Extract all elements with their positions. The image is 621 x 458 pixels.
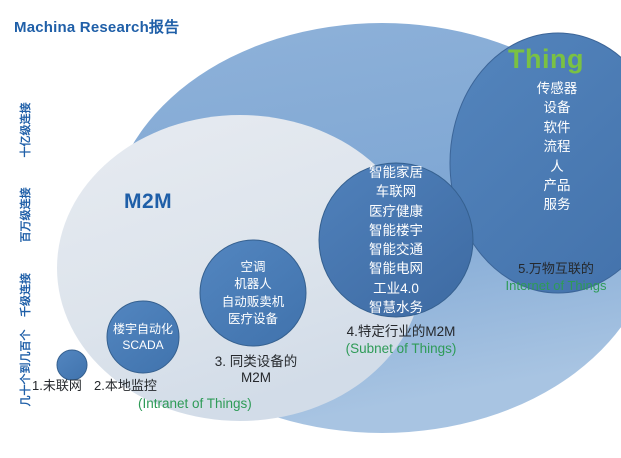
level-5-item-list: 传感器 设备 软件 流程 人 产品 服务 <box>502 79 612 215</box>
connection-scale-axis: 十亿级连接 百万级连接 千级连接 几十个到几百个 <box>8 82 42 400</box>
level-5-caption-en: Internet of Things <box>494 278 618 293</box>
level-4-caption: 4.特定行业的M2M (Subnet of Things) <box>330 320 472 356</box>
level-3-caption-cn-line1: 3. 同类设备的 <box>198 350 314 370</box>
axis-label-billions: 十亿级连接 <box>17 103 33 158</box>
level-2-item-list: 楼宇自动化 SCADA <box>101 321 185 353</box>
level-2-caption-en: (Intranet of Things) <box>138 396 252 411</box>
page-title: Machina Research报告 <box>14 16 179 37</box>
axis-label-thousands: 千级连接 <box>17 273 33 317</box>
axis-label-millions: 百万级连接 <box>17 188 33 243</box>
level-3-caption: 3. 同类设备的 M2M <box>198 350 314 385</box>
author-watermark: 知乎 @与子同袍 <box>494 428 611 447</box>
level-3-caption-cn-line2: M2M <box>198 370 314 385</box>
thing-heading: Thing <box>508 44 584 75</box>
level-4-caption-en: (Subnet of Things) <box>330 341 472 356</box>
level-4-item-list: 智能家居 车联网 医疗健康 智能楼宇 智能交通 智能电网 工业4.0 智慧水务 <box>336 163 456 317</box>
level-4-caption-cn: 4.特定行业的M2M <box>330 320 472 340</box>
broad-iot-watermark: 广义的IoT物联网 <box>499 409 611 428</box>
level-3-item-list: 空调 机器人 自动贩卖机 医疗设备 <box>199 259 307 329</box>
level-5-caption-cn: 5.万物互联的 <box>494 258 618 277</box>
diagram-canvas: Machina Research报告 十亿级连接 百万级连接 千级连接 几十个到… <box>0 0 621 458</box>
level-5-caption: 5.万物互联的 Internet of Things <box>494 258 618 293</box>
m2m-heading: M2M <box>124 190 172 214</box>
axis-label-dozens: 几十个到几百个 <box>17 330 33 407</box>
